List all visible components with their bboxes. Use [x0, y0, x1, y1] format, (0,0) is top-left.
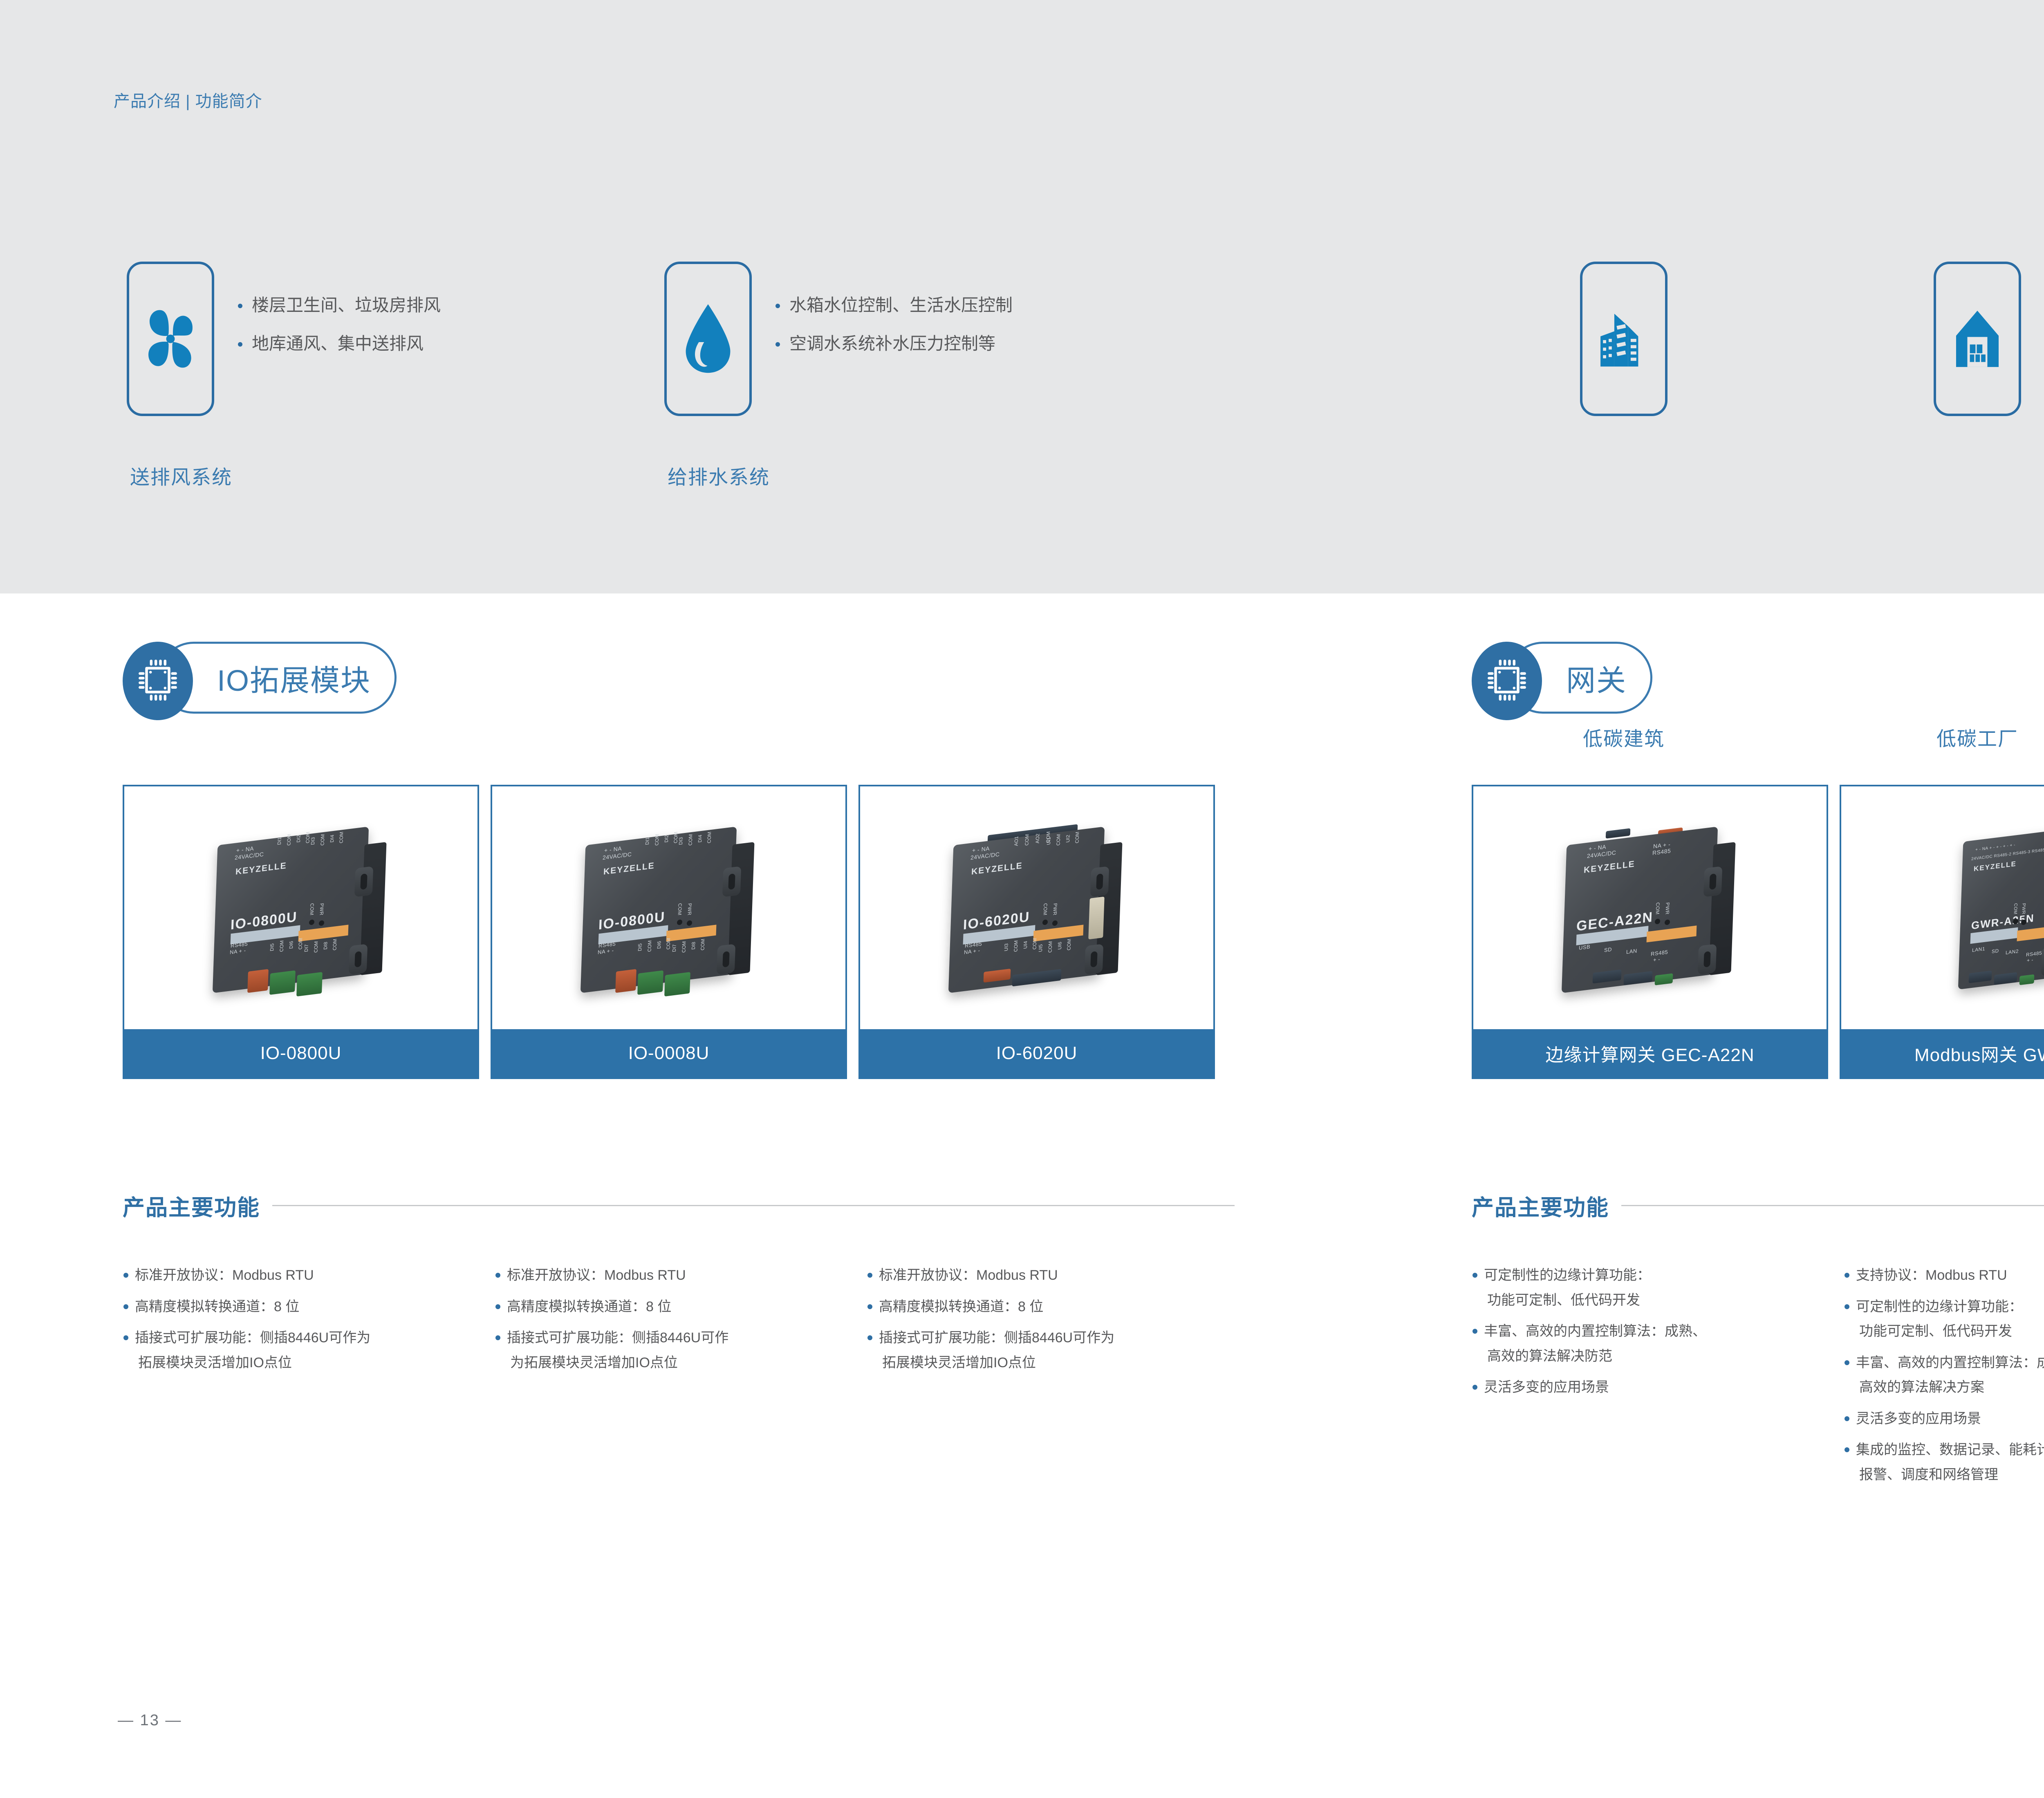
list-item: 可定制性的边缘计算功能： 功能可定制、低代码开发: [1843, 1294, 2044, 1344]
section-header-io-modules: IO拓展模块: [123, 642, 397, 714]
io-module-card-list: KEYZELLE + - NA 24VAC/DC DI1COMDI2COM DI…: [123, 785, 1215, 1079]
chip-icon-badge: [1472, 642, 1542, 720]
list-item-line2: 报警、调度和网络管理: [1856, 1462, 2044, 1487]
scenario-caption-water: 给排水系统: [668, 461, 770, 490]
product-label: IO-0008U: [628, 1043, 710, 1064]
lowcarbon-building-tile: 低碳建筑: [1580, 262, 1667, 416]
features-column: 标准开放协议：Modbus RTU 高精度模拟转换通道：8 位 插接式可扩展功能…: [494, 1263, 866, 1382]
features-columns-left: 标准开放协议：Modbus RTU 高精度模拟转换通道：8 位 插接式可扩展功能…: [122, 1263, 1238, 1382]
device-port-sd: SD: [1604, 946, 1612, 953]
factory-icon: [1951, 308, 2004, 369]
product-label-bar: IO-0800U: [124, 1029, 477, 1077]
device-led-label-com: COM: [2013, 903, 2018, 915]
section-title: 网关: [1566, 656, 1627, 699]
product-label-bar: IO-6020U: [860, 1029, 1213, 1077]
list-item-line1: 集成的监控、数据记录、能耗计量、: [1856, 1442, 2044, 1458]
features-column: 标准开放协议：Modbus RTU 高精度模拟转换通道：8 位 插接式可扩展功能…: [122, 1263, 494, 1382]
features-title: 产品主要功能: [1472, 1189, 1609, 1222]
chip-icon-badge: [123, 642, 193, 720]
chip-icon: [137, 658, 179, 705]
list-item: 灵活多变的应用场景: [1471, 1375, 1843, 1400]
running-head-left: 产品介绍 | 功能简介: [114, 88, 262, 112]
list-item: 高精度模拟转换通道：8 位: [122, 1294, 494, 1319]
device-led-label-pwr: PWR: [686, 903, 693, 916]
water-drop-icon-tile: [664, 262, 752, 416]
list-item-line2: 为拓展模块灵活增加IO点位: [507, 1350, 866, 1375]
device-led-label-com: COM: [677, 903, 683, 916]
fan-icon-tile: [127, 262, 214, 416]
list-item: 标准开放协议：Modbus RTU: [494, 1263, 866, 1288]
list-item: 支持协议：Modbus RTU: [1843, 1263, 2044, 1288]
list-item-line1: 丰富、高效的内置控制算法：成熟、: [1484, 1323, 1706, 1339]
device-port-sd: SD: [1992, 948, 1999, 954]
features-column: 标准开放协议：Modbus RTU 高精度模拟转换通道：8 位 插接式可扩展功能…: [866, 1263, 1238, 1382]
product-card[interactable]: KEYZELLE + - NA 24VAC/DC NA + - RS485 GE…: [1472, 785, 1828, 1079]
list-item-line1: 丰富、高效的内置控制算法：成熟、: [1856, 1355, 2044, 1370]
list-item-line1: 插接式可扩展功能：侧插8446U可作为: [135, 1330, 370, 1346]
list-item: 水箱水位控制、生活水压控制: [775, 297, 1013, 314]
water-drop-icon: [682, 303, 734, 375]
section-header-gateways: 网关: [1472, 642, 1652, 714]
product-image: KEYZELLE + - NA 24VAC/DC NA + - RS485 GE…: [1473, 786, 1827, 1029]
list-item: 插接式可扩展功能：侧插8446U可作为 拓展模块灵活增加IO点位: [122, 1326, 494, 1375]
product-card[interactable]: KEYZELLE + - NA + - + - + - + - 24VAC/DC…: [1840, 785, 2044, 1079]
heading-rule: [1621, 1205, 2044, 1206]
product-image: KEYZELLE + - NA 24VAC/DC DI1COMDI2COM DI…: [492, 786, 845, 1029]
product-image: KEYZELLE + - NA 24VAC/DC AO1COMAO2COM UI…: [860, 786, 1213, 1029]
list-item-line2: 高效的算法解决防范: [1484, 1344, 1843, 1369]
office-building-icon-tile: [1580, 262, 1667, 416]
features-heading-right: 产品主要功能: [1472, 1189, 2044, 1222]
list-item: 灵活多变的应用场景: [1843, 1406, 2044, 1431]
product-label-bar: IO-0008U: [492, 1029, 845, 1077]
brochure-spread: 产品介绍 | 功能简介 产品介绍 | 功能简介 楼层卫生间、垃圾房排风 地库通风…: [0, 0, 2044, 1798]
list-item-line2: 拓展模块灵活增加IO点位: [879, 1350, 1238, 1375]
scenario-water-supply: 水箱水位控制、生活水压控制 空调水系统补水压力控制等: [664, 262, 1013, 416]
list-item-line1: 可定制性的边缘计算功能：: [1484, 1267, 1651, 1283]
product-label: 边缘计算网关 GEC-A22N: [1545, 1040, 1754, 1066]
device-led-label-pwr: PWR: [1664, 902, 1670, 915]
product-label: IO-0800U: [260, 1043, 342, 1064]
list-item: 可定制性的边缘计算功能： 功能可定制、低代码开发: [1471, 1263, 1843, 1312]
features-column: 支持协议：Modbus RTU 可定制性的边缘计算功能： 功能可定制、低代码开发…: [1843, 1263, 2044, 1493]
section-title: IO拓展模块: [217, 656, 371, 699]
device-led-label-pwr: PWR: [2021, 903, 2026, 915]
list-item: 集成的监控、数据记录、能耗计量、 报警、调度和网络管理: [1843, 1438, 2044, 1487]
list-item: 丰富、高效的内置控制算法：成熟、 高效的算法解决方案: [1843, 1350, 2044, 1400]
product-card[interactable]: KEYZELLE + - NA 24VAC/DC AO1COMAO2COM UI…: [858, 785, 1215, 1079]
lowcarbon-factory-tile: 低碳工厂: [1934, 262, 2021, 416]
device-led-label-com: COM: [1042, 903, 1048, 916]
list-item-line1: 可定制性的边缘计算功能：: [1856, 1299, 2023, 1314]
list-item: 楼层卫生间、垃圾房排风: [238, 297, 441, 314]
product-card[interactable]: KEYZELLE + - NA 24VAC/DC DI1COMDI2COM DI…: [491, 785, 847, 1079]
list-item-line2: 功能可定制、低代码开发: [1856, 1319, 2044, 1344]
device-led-label-com: COM: [309, 903, 315, 916]
product-image: KEYZELLE + - NA + - + - + - + - 24VAC/DC…: [1841, 786, 2044, 1029]
chip-icon: [1486, 658, 1528, 705]
features-columns-right: 可定制性的边缘计算功能： 功能可定制、低代码开发 丰富、高效的内置控制算法：成熟…: [1471, 1263, 2044, 1493]
list-item-line1: 插接式可扩展功能：侧插8446U可作为: [879, 1330, 1114, 1346]
office-building-icon: [1595, 306, 1652, 372]
lowcarbon-caption-building: 低碳建筑: [1550, 723, 1697, 751]
ventilation-bullet-list: 楼层卫生间、垃圾房排风 地库通风、集中送排风: [238, 297, 441, 374]
product-label-bar: 边缘计算网关 GEC-A22N: [1473, 1029, 1827, 1077]
list-item-line2: 高效的算法解决方案: [1856, 1375, 2044, 1400]
gateway-card-list: KEYZELLE + - NA 24VAC/DC NA + - RS485 GE…: [1472, 785, 2044, 1079]
list-item: 高精度模拟转换通道：8 位: [494, 1294, 866, 1319]
page-number-left: — 13 —: [118, 1712, 182, 1729]
list-item-line2: 拓展模块灵活增加IO点位: [135, 1350, 494, 1375]
product-label-bar: Modbus网关 GWR-A25N: [1841, 1029, 2044, 1077]
list-item: 标准开放协议：Modbus RTU: [866, 1263, 1238, 1288]
device-port-rs485-sub: + -: [2027, 957, 2033, 963]
features-heading-left: 产品主要功能: [123, 1189, 1235, 1222]
features-title: 产品主要功能: [123, 1189, 260, 1222]
list-item: 空调水系统补水压力控制等: [775, 335, 1013, 352]
product-card[interactable]: KEYZELLE + - NA 24VAC/DC DI1COMDI2COM DI…: [123, 785, 479, 1079]
device-led-label-pwr: PWR: [1052, 903, 1058, 916]
scenario-ventilation: 楼层卫生间、垃圾房排风 地库通风、集中送排风: [127, 262, 441, 416]
device-led-label-pwr: PWR: [318, 903, 325, 916]
device-led-label-com: COM: [1654, 902, 1661, 915]
lowcarbon-caption-factory: 低碳工厂: [1904, 723, 2044, 751]
list-item: 丰富、高效的内置控制算法：成熟、 高效的算法解决防范: [1471, 1319, 1843, 1368]
fan-icon: [140, 307, 201, 371]
list-item: 标准开放协议：Modbus RTU: [122, 1263, 494, 1288]
product-label: IO-6020U: [996, 1043, 1078, 1064]
water-bullet-list: 水箱水位控制、生活水压控制 空调水系统补水压力控制等: [775, 297, 1013, 374]
list-item: 插接式可扩展功能：侧插8446U可作 为拓展模块灵活增加IO点位: [494, 1326, 866, 1375]
product-image: KEYZELLE + - NA 24VAC/DC DI1COMDI2COM DI…: [124, 786, 477, 1029]
device-port-rs485-sub: + -: [1653, 956, 1661, 963]
product-label: Modbus网关 GWR-A25N: [1914, 1040, 2044, 1066]
list-item-line1: 插接式可扩展功能：侧插8446U可作: [507, 1330, 728, 1346]
heading-rule: [272, 1205, 1235, 1206]
scenario-caption-ventilation: 送排风系统: [130, 461, 232, 490]
list-item: 插接式可扩展功能：侧插8446U可作为 拓展模块灵活增加IO点位: [866, 1326, 1238, 1375]
list-item-line2: 功能可定制、低代码开发: [1484, 1288, 1843, 1313]
section-pill-io-modules: IO拓展模块: [158, 642, 397, 714]
factory-icon-tile: [1934, 262, 2021, 416]
features-column: 可定制性的边缘计算功能： 功能可定制、低代码开发 丰富、高效的内置控制算法：成熟…: [1471, 1263, 1843, 1493]
list-item: 地库通风、集中送排风: [238, 335, 441, 352]
list-item: 高精度模拟转换通道：8 位: [866, 1294, 1238, 1319]
